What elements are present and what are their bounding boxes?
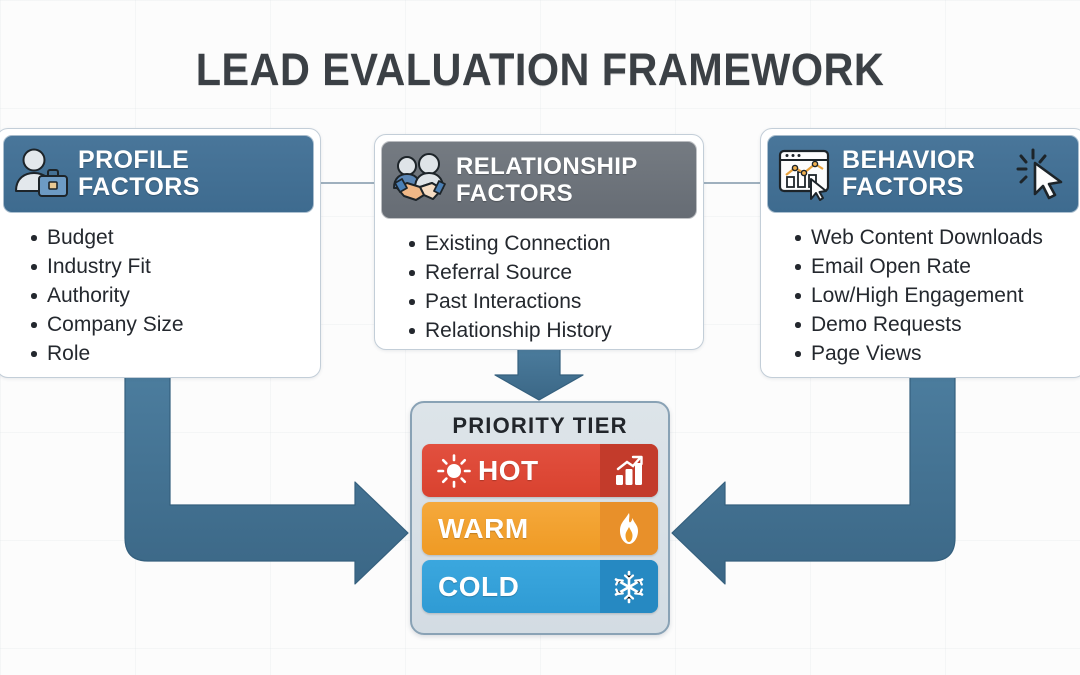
arrow-profile-to-tier	[125, 372, 408, 584]
flame-icon	[600, 502, 658, 555]
arrow-behavior-to-tier	[672, 372, 955, 584]
card-behavior-title: BEHAVIOR FACTORS	[842, 147, 975, 201]
list-item: Email Open Rate	[795, 254, 1080, 280]
list-item: Low/High Engagement	[795, 283, 1080, 309]
sun-icon	[434, 454, 474, 488]
card-relationship-factors[interactable]: RELATIONSHIP FACTORS Existing Connection…	[374, 134, 704, 350]
tier-hot-left: HOT	[422, 444, 600, 497]
list-item: Relationship History	[409, 318, 703, 344]
arrow-relationship-to-tier	[495, 346, 583, 400]
list-item: Role	[31, 341, 320, 367]
handshake-icon	[388, 152, 452, 208]
connector-profile-relationship	[318, 182, 376, 184]
list-item: Web Content Downloads	[795, 225, 1080, 251]
tier-row-warm[interactable]: WARM	[422, 502, 658, 555]
list-item: Referral Source	[409, 260, 703, 286]
snowflake-icon	[600, 560, 658, 613]
person-briefcase-icon	[10, 146, 74, 202]
tier-warm-label: WARM	[438, 513, 529, 545]
tier-cold-label: COLD	[438, 571, 519, 603]
bar-chart-up-icon	[600, 444, 658, 497]
list-item: Page Views	[795, 341, 1080, 367]
card-behavior-header: BEHAVIOR FACTORS	[767, 135, 1079, 213]
analytics-dashboard-icon	[774, 147, 838, 201]
list-item: Existing Connection	[409, 231, 703, 257]
list-item: Industry Fit	[31, 254, 320, 280]
tier-cold-left: COLD	[422, 560, 600, 613]
card-profile-header: PROFILE FACTORS	[3, 135, 314, 213]
tier-hot-label: HOT	[478, 455, 539, 487]
card-relationship-title: RELATIONSHIP FACTORS	[456, 153, 638, 207]
list-item: Demo Requests	[795, 312, 1080, 338]
priority-tier-title: PRIORITY TIER	[412, 413, 668, 439]
tier-row-hot[interactable]: HOT	[422, 444, 658, 497]
card-behavior-list: Web Content Downloads Email Open Rate Lo…	[761, 225, 1080, 367]
priority-tier-panel[interactable]: PRIORITY TIER HOT	[410, 401, 670, 635]
card-relationship-header: RELATIONSHIP FACTORS	[381, 141, 697, 219]
card-profile-factors[interactable]: PROFILE FACTORS Budget Industry Fit Auth…	[0, 128, 321, 378]
card-profile-title: PROFILE FACTORS	[78, 147, 200, 201]
connector-relationship-behavior	[702, 182, 762, 184]
tier-warm-left: WARM	[422, 502, 600, 555]
list-item: Authority	[31, 283, 320, 309]
card-profile-list: Budget Industry Fit Authority Company Si…	[0, 225, 320, 367]
list-item: Company Size	[31, 312, 320, 338]
card-behavior-factors[interactable]: BEHAVIOR FACTORS Web Content Downloads E…	[760, 128, 1080, 378]
card-relationship-list: Existing Connection Referral Source Past…	[375, 231, 703, 344]
diagram-canvas: LEAD EVALUATION FRAMEWORK	[0, 0, 1080, 675]
list-item: Budget	[31, 225, 320, 251]
page-title: LEAD EVALUATION FRAMEWORK	[43, 44, 1037, 96]
cursor-click-icon	[1014, 145, 1072, 203]
list-item: Past Interactions	[409, 289, 703, 315]
tier-row-cold[interactable]: COLD	[422, 560, 658, 613]
